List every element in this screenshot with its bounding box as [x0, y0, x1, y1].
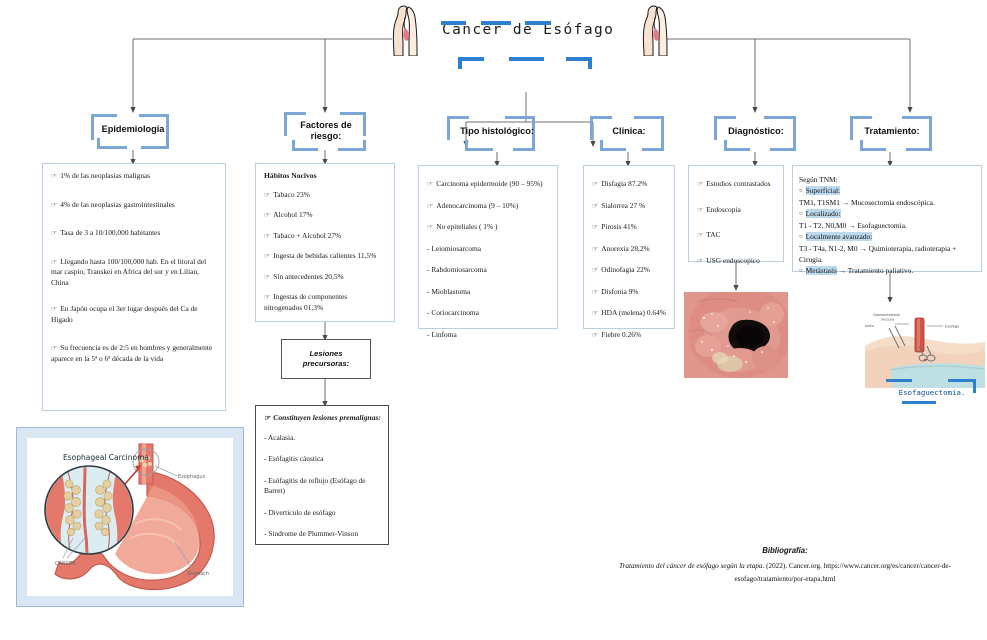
svg-text:Esophageal Carcinoma: Esophageal Carcinoma [63, 453, 149, 462]
clinica-list: Disfagia 87.2% Sialorrea 27 % Pirosis 41… [592, 179, 667, 340]
caption-text: Esofaguectomia. [890, 388, 974, 397]
list-item: En Japón ocupa el 3er lugar después del … [51, 304, 218, 325]
section-heading: Hábitos Nocivos [264, 171, 387, 182]
list-item: Sialorrea 27 % [592, 201, 667, 212]
svg-text:Gastrointestinal: Gastrointestinal [873, 313, 900, 317]
lesiones-list: Acalasia. Esófagitis cáustica Esófagitis… [264, 433, 381, 540]
bibliography-reference: Tratamiento del cáncer de esófago según … [585, 560, 985, 586]
svg-text:CANCER: CANCER [55, 561, 76, 567]
svg-text:Esofago: Esofago [945, 325, 959, 329]
list-item: Odinofagia 22% [592, 265, 667, 276]
list-item: Ingesta de bebidas calientes 11,5% [264, 251, 387, 262]
branch-label-epidemiologia[interactable]: Epidemiologia [83, 110, 183, 166]
svg-text:Esophagus: Esophagus [178, 474, 206, 480]
map-title: Cáncer de Esófago [392, 8, 660, 60]
list-item: 4% de las neoplasias gastrointestinales [51, 200, 218, 211]
list-item: Sindrome de Plummer-Vinson [264, 529, 381, 540]
stage-metastasis: Metástasis → Tratamiento paliativo. [799, 265, 975, 277]
list-item: HDA (melena) 0.64% [592, 308, 667, 319]
bibliography-source-rest: (2022). Cancer.org. https://www.cancer.o… [734, 562, 951, 583]
stage-superficial-name: Superficial: [799, 185, 975, 197]
svg-text:Stomach: Stomach [187, 571, 209, 577]
content-box-diagnostico: Estudios contrastados Endoscopia TAC USG… [688, 165, 784, 262]
list-item: Esófagitis de reflujo (Esófago de Barret… [264, 476, 381, 497]
stage-superficial-detail: TM1, T1SM1 → Mucosectomía endoscópica. [799, 197, 975, 208]
svg-text:mucosa: mucosa [881, 318, 894, 322]
list-item: No epiteliales ( 1% ) [427, 222, 550, 233]
list-item: Endoscopia [697, 205, 776, 216]
stage-avanzado-detail: T3 - T4a, N1-2, M0 → Quimioterapia, radi… [799, 243, 975, 265]
list-item: 1% de las neoplasias malignas [51, 171, 218, 182]
list-item: Ingestas de componentes nitrogenados 01,… [264, 292, 387, 313]
esophageal-carcinoma-illustration: Esophageal Carcinoma Esophagus CANCER St… [27, 438, 233, 596]
branch-label-factores[interactable]: Factores de riesgo: [278, 110, 374, 166]
content-box-factores: Hábitos Nocivos Tabaco 23% Alcohol 17% T… [255, 163, 395, 322]
section-heading: Constituyen lesiones premalignas: [264, 413, 381, 424]
stage-localizado-name: Localizado: [799, 208, 975, 220]
list-item: Anorexia 28,2% [592, 244, 667, 255]
branch-label-clinica[interactable]: Clinica: [586, 112, 672, 168]
node-lesiones-precursoras[interactable]: Lesiones precursoras: [281, 339, 371, 379]
content-box-tipo-histologico: Carcinoma epidermoide (90 – 95%) Adenoca… [418, 165, 558, 329]
list-item: Pirosis 41% [592, 222, 667, 233]
list-item: Disfonia 9% [592, 287, 667, 298]
list-item: Sin antecedentes 20,5% [264, 272, 387, 283]
content-box-lesiones-premalignas: Constituyen lesiones premalignas: Acalas… [255, 405, 389, 545]
diagnostico-list: Estudios contrastados Endoscopia TAC USG… [697, 179, 776, 266]
content-box-tratamiento: Según TNM: Superficial: TM1, T1SM1 → Muc… [792, 165, 982, 272]
bibliography: Bibliografía: Tratamiento del cáncer de … [585, 546, 985, 586]
branch-label-text: Tipo histológico: [443, 126, 551, 137]
list-item: Carcinoma epidermoide (90 – 95%) [427, 179, 550, 190]
list-item: Alcohol 17% [264, 210, 387, 221]
list-item: Esófagitis cáustica [264, 454, 381, 465]
list-item: Diverticulo de esófago [264, 508, 381, 519]
branch-label-text: Clinica: [586, 126, 672, 137]
stage-avanzado-name: Localmente avanzado: [799, 231, 975, 243]
content-box-epidemiologia: 1% de las neoplasias malignas 4% de las … [42, 163, 226, 411]
factores-list: Tabaco 23% Alcohol 17% Tabaco + Alcohol … [264, 190, 387, 314]
branch-label-text: Tratamiento: [846, 126, 938, 137]
list-item: Coriocarcinoma [427, 308, 550, 319]
branch-label-tipo[interactable]: Tipo histológico: [443, 112, 551, 168]
tratamiento-content: Según TNM: Superficial: TM1, T1SM1 → Muc… [799, 174, 975, 277]
person-torso-right-icon [640, 4, 674, 56]
list-item: Fiebre 0.26% [592, 330, 667, 341]
list-item: Mioblastoma [427, 287, 550, 298]
list-item: Leiomiosarcoma [427, 244, 550, 255]
branch-label-diagnostico[interactable]: Diagnóstico: [710, 112, 802, 168]
list-item: Estudios contrastados [697, 179, 776, 190]
svg-text:sorta: sorta [865, 324, 874, 328]
branch-label-tratamiento[interactable]: Tratamiento: [846, 112, 938, 168]
bibliography-title: Bibliografía: [585, 546, 985, 555]
anatomy-image-frame: Esophageal Carcinoma Esophagus CANCER St… [16, 427, 244, 607]
list-item: Tasa de 3 a 10/100,000 habitantes [51, 228, 218, 239]
list-item: Disfagia 87.2% [592, 179, 667, 190]
stage-localizado-detail: T1 - T2, N0,M0 → Esofaguectomia. [799, 220, 975, 231]
epidemiologia-list: 1% de las neoplasias malignas 4% de las … [51, 171, 218, 364]
branch-label-text: Epidemiologia [83, 124, 183, 135]
list-item: Acalasia. [264, 433, 381, 444]
branch-label-text: Diagnóstico: [710, 126, 802, 137]
list-item: USG endoscopico [697, 256, 776, 267]
bibliography-source-italic: Tratamiento del cáncer de esófago según … [619, 562, 764, 570]
list-item: Llegando hasta 100/100,000 hab. En el li… [51, 257, 218, 289]
list-item: Tabaco + Alcohol 27% [264, 231, 387, 242]
content-box-clinica: Disfagia 87.2% Sialorrea 27 % Pirosis 41… [583, 165, 675, 329]
tipo-list: Carcinoma epidermoide (90 – 95%) Adenoca… [427, 179, 550, 340]
list-item: Su frecuencia es de 2:5 en hombres y gen… [51, 343, 218, 364]
list-item: TAC [697, 230, 776, 241]
branch-label-text: Factores de riesgo: [278, 120, 374, 142]
list-item: Rabdomiosarcoma [427, 265, 550, 276]
list-item: Tabaco 23% [264, 190, 387, 201]
list-item: Adenocarcinoma (9 – 10%) [427, 201, 550, 212]
person-torso-left-icon [390, 4, 424, 56]
concept-map-canvas: Cáncer de Esófago [0, 0, 987, 640]
list-item: Linfoma [427, 330, 550, 341]
caption-esofaguectomia: Esofaguectomia. [886, 385, 978, 402]
tnm-lead: Según TNM: [799, 174, 975, 185]
endoscopy-image [684, 292, 788, 378]
esophagectomy-image: Gastrointestinal mucosa sorta Esofago [865, 302, 985, 388]
